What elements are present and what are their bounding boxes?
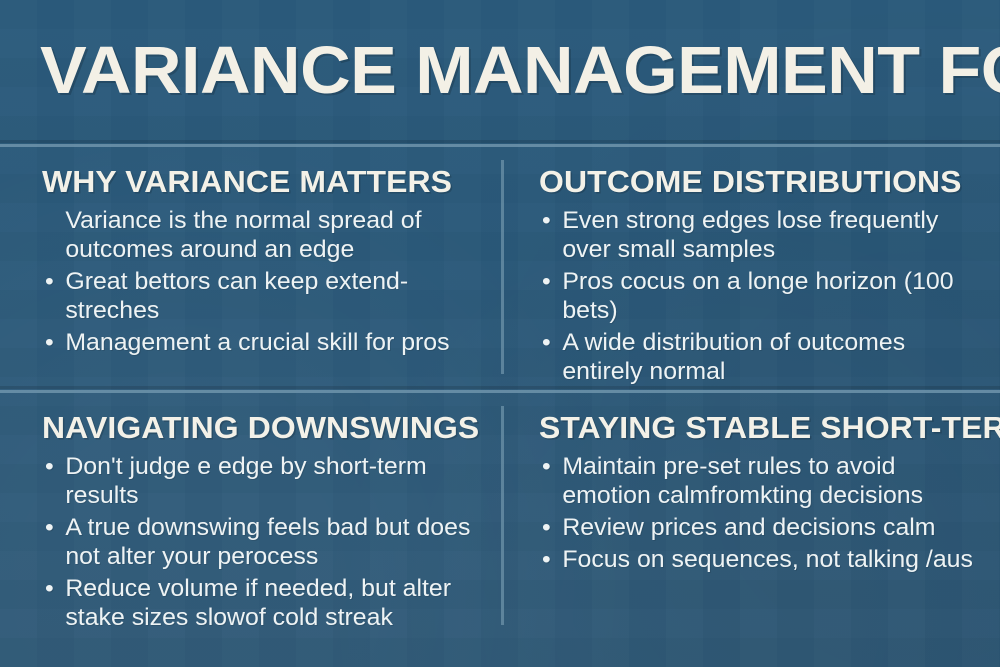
bullet-icon: • bbox=[542, 328, 551, 357]
quadrant-title: NAVIGATING DOWNSWINGS bbox=[42, 410, 501, 446]
list-item: •Review prices and decisions calm bbox=[539, 513, 986, 542]
divider-top-shade bbox=[0, 140, 1000, 143]
list-item-label: Focus on sequences, not talking /aus bbox=[562, 546, 973, 573]
poster-header: VARIANCE MANAGEMENT FOR PROS bbox=[0, 0, 1000, 140]
bullet-icon: • bbox=[45, 513, 54, 542]
bullet-icon: • bbox=[45, 267, 54, 296]
divider-vertical-top bbox=[501, 160, 504, 374]
bullet-icon: • bbox=[45, 328, 54, 357]
quadrant-title: WHY VARIANCE MATTERS bbox=[42, 164, 501, 200]
divider-horizontal-top bbox=[0, 144, 1000, 147]
list-item: •Maintain pre-set rules to avoid emotion… bbox=[539, 452, 986, 510]
list-item-label: Variance is the normal spread of outcome… bbox=[65, 207, 421, 263]
quadrant-outcome-distributions: OUTCOME DISTRIBUTIONS •Even strong edges… bbox=[539, 164, 979, 386]
list-item-label: A wide distribution of outcomes entirely… bbox=[562, 329, 905, 385]
quadrant-navigating-downswings: NAVIGATING DOWNSWINGS •Don't judge e edg… bbox=[42, 410, 488, 632]
quadrant-bullet-list: •Variance is the normal spread of outcom… bbox=[42, 206, 488, 357]
list-item: •Variance is the normal spread of outcom… bbox=[42, 206, 495, 264]
bullet-icon: • bbox=[542, 545, 551, 574]
quadrant-bullet-list: •Maintain pre-set rules to avoid emotion… bbox=[539, 452, 979, 574]
quadrant-staying-stable-short-term: STAYING STABLE SHORT-TERM •Maintain pre-… bbox=[539, 410, 979, 574]
list-item-label: Even strong edges lose frequently over s… bbox=[562, 207, 938, 263]
list-item-label: Review prices and decisions calm bbox=[562, 514, 935, 541]
bullet-icon: • bbox=[45, 574, 54, 603]
list-item: •Reduce volume if needed, but alter stak… bbox=[42, 574, 495, 632]
quadrant-bullet-list: •Even strong edges lose frequently over … bbox=[539, 206, 979, 386]
list-item-label: Great bettors can keep extend-streches bbox=[65, 268, 408, 324]
page-title: VARIANCE MANAGEMENT FOR PROS bbox=[40, 34, 1000, 108]
list-item-label: Maintain pre-set rules to avoid emotion … bbox=[562, 453, 923, 509]
bullet-icon: • bbox=[542, 513, 551, 542]
list-item-label: A true downswing feels bad but does not … bbox=[65, 514, 470, 570]
list-item: •Even strong edges lose frequently over … bbox=[539, 206, 986, 264]
list-item: •Don't judge e edge by short-term result… bbox=[42, 452, 495, 510]
bullet-icon: • bbox=[542, 267, 551, 296]
list-item-label: Don't judge e edge by short-term results bbox=[65, 453, 426, 509]
list-item: •Pros cocus on a longe horizon (100 bets… bbox=[539, 267, 986, 325]
divider-horizontal-middle bbox=[0, 390, 1000, 393]
list-item-label: Reduce volume if needed, but alter stake… bbox=[65, 575, 451, 631]
bullet-icon: • bbox=[45, 452, 54, 481]
bullet-icon: • bbox=[542, 206, 551, 235]
list-item: •A true downswing feels bad but does not… bbox=[42, 513, 495, 571]
list-item: •Management a crucial skill for pros bbox=[42, 328, 495, 357]
divider-vertical-bottom bbox=[501, 406, 504, 625]
quadrant-why-variance-matters: WHY VARIANCE MATTERS •Variance is the no… bbox=[42, 164, 488, 357]
list-item: •Great bettors can keep extend-streches bbox=[42, 267, 495, 325]
quadrant-title: OUTCOME DISTRIBUTIONS bbox=[539, 164, 992, 200]
quadrant-bullet-list: •Don't judge e edge by short-term result… bbox=[42, 452, 488, 632]
list-item-label: Pros cocus on a longe horizon (100 bets) bbox=[562, 268, 953, 324]
list-item: •Focus on sequences, not talking /aus bbox=[539, 545, 986, 574]
quadrant-title: STAYING STABLE SHORT-TERM bbox=[539, 410, 992, 446]
bullet-icon: • bbox=[542, 452, 551, 481]
infographic-poster: VARIANCE MANAGEMENT FOR PROS WHY VARIANC… bbox=[0, 0, 1000, 667]
divider-middle-shade bbox=[0, 386, 1000, 389]
list-item: •A wide distribution of outcomes entirel… bbox=[539, 328, 986, 386]
list-item-label: Management a crucial skill for pros bbox=[65, 329, 449, 356]
